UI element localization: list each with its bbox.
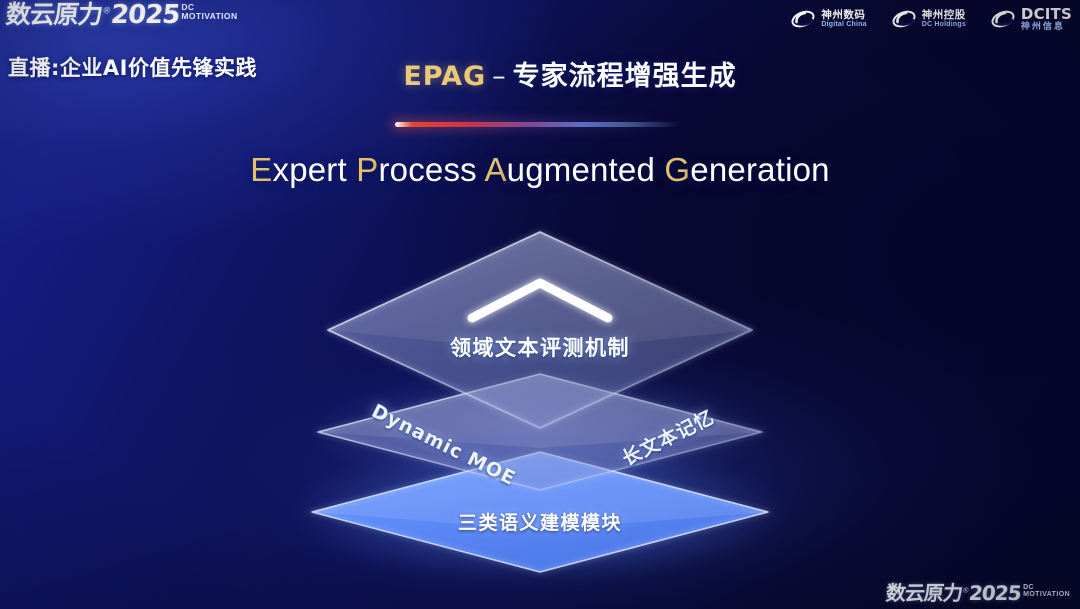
watermark-cn: 数云原力® <box>885 583 969 603</box>
watermark-tagline: DC MOTIVATION <box>1023 584 1070 598</box>
watermark-dc: DC <box>1023 584 1070 591</box>
bottom-layer-label: 三类语义建模模块 <box>0 508 1080 535</box>
top-layer-label: 领域文本评测机制 <box>0 332 1080 362</box>
slide-canvas: 数云原力® 2025 DC MOTIVATION 直播:企业AI价值先锋实践 神… <box>0 0 1080 609</box>
isometric-layer-stack: 领域文本评测机制 Dynamic MOE 长文本记忆 三类语义建模模块 <box>0 0 1080 609</box>
watermark-year: 2025 <box>968 583 1022 603</box>
footer-watermark: 数云原力® 2025 DC MOTIVATION <box>886 583 1070 603</box>
watermark-motivation: MOTIVATION <box>1023 591 1070 598</box>
